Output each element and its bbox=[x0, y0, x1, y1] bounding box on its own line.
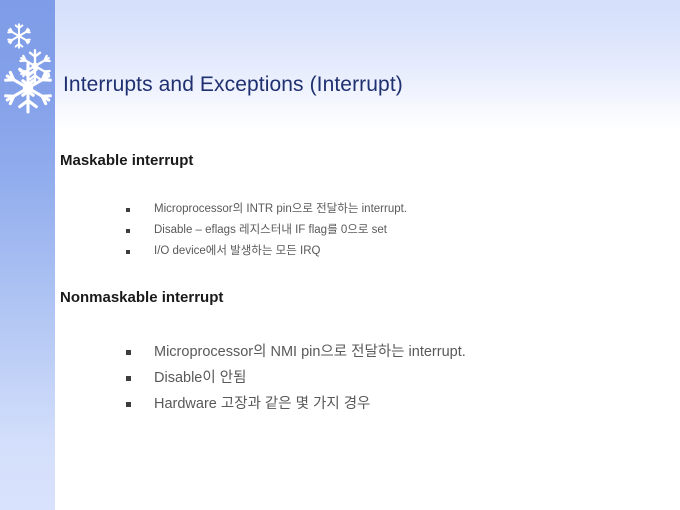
list-item-label: Disable이 안됨 bbox=[154, 365, 246, 391]
bullet-square-icon bbox=[126, 402, 131, 407]
list-item: Hardware 고장과 같은 몇 가지 경우 bbox=[126, 391, 466, 417]
bullet-square-icon bbox=[126, 376, 131, 381]
bullet-square-icon bbox=[126, 250, 130, 254]
bullet-list-nonmaskable: Microprocessor의 NMI pin으로 전달하는 interrupt… bbox=[126, 339, 466, 417]
list-item: Microprocessor의 INTR pin으로 전달하는 interrup… bbox=[126, 199, 407, 220]
page-title: Interrupts and Exceptions (Interrupt) bbox=[63, 73, 403, 97]
list-item: I/O device에서 발생하는 모든 IRQ bbox=[126, 241, 407, 262]
bullet-square-icon bbox=[126, 208, 130, 212]
list-item: Disable – eflags 레지스터내 IF flag를 0으로 set bbox=[126, 220, 407, 241]
list-item-label: Microprocessor의 INTR pin으로 전달하는 interrup… bbox=[154, 199, 407, 220]
list-item-label: Hardware 고장과 같은 몇 가지 경우 bbox=[154, 391, 370, 417]
list-item-label: I/O device에서 발생하는 모든 IRQ bbox=[154, 241, 320, 262]
list-item: Microprocessor의 NMI pin으로 전달하는 interrupt… bbox=[126, 339, 466, 365]
bullet-square-icon bbox=[126, 350, 131, 355]
list-item: Disable이 안됨 bbox=[126, 365, 466, 391]
list-item-label: Disable – eflags 레지스터내 IF flag를 0으로 set bbox=[154, 220, 387, 241]
presentation-slide: Interrupts and Exceptions (Interrupt) Ma… bbox=[0, 0, 680, 510]
slide-content: Interrupts and Exceptions (Interrupt) Ma… bbox=[0, 0, 680, 510]
section-heading-nonmaskable: Nonmaskable interrupt bbox=[60, 289, 223, 306]
bullet-list-maskable: Microprocessor의 INTR pin으로 전달하는 interrup… bbox=[126, 199, 407, 262]
section-heading-maskable: Maskable interrupt bbox=[60, 152, 193, 169]
list-item-label: Microprocessor의 NMI pin으로 전달하는 interrupt… bbox=[154, 339, 466, 365]
bullet-square-icon bbox=[126, 229, 130, 233]
